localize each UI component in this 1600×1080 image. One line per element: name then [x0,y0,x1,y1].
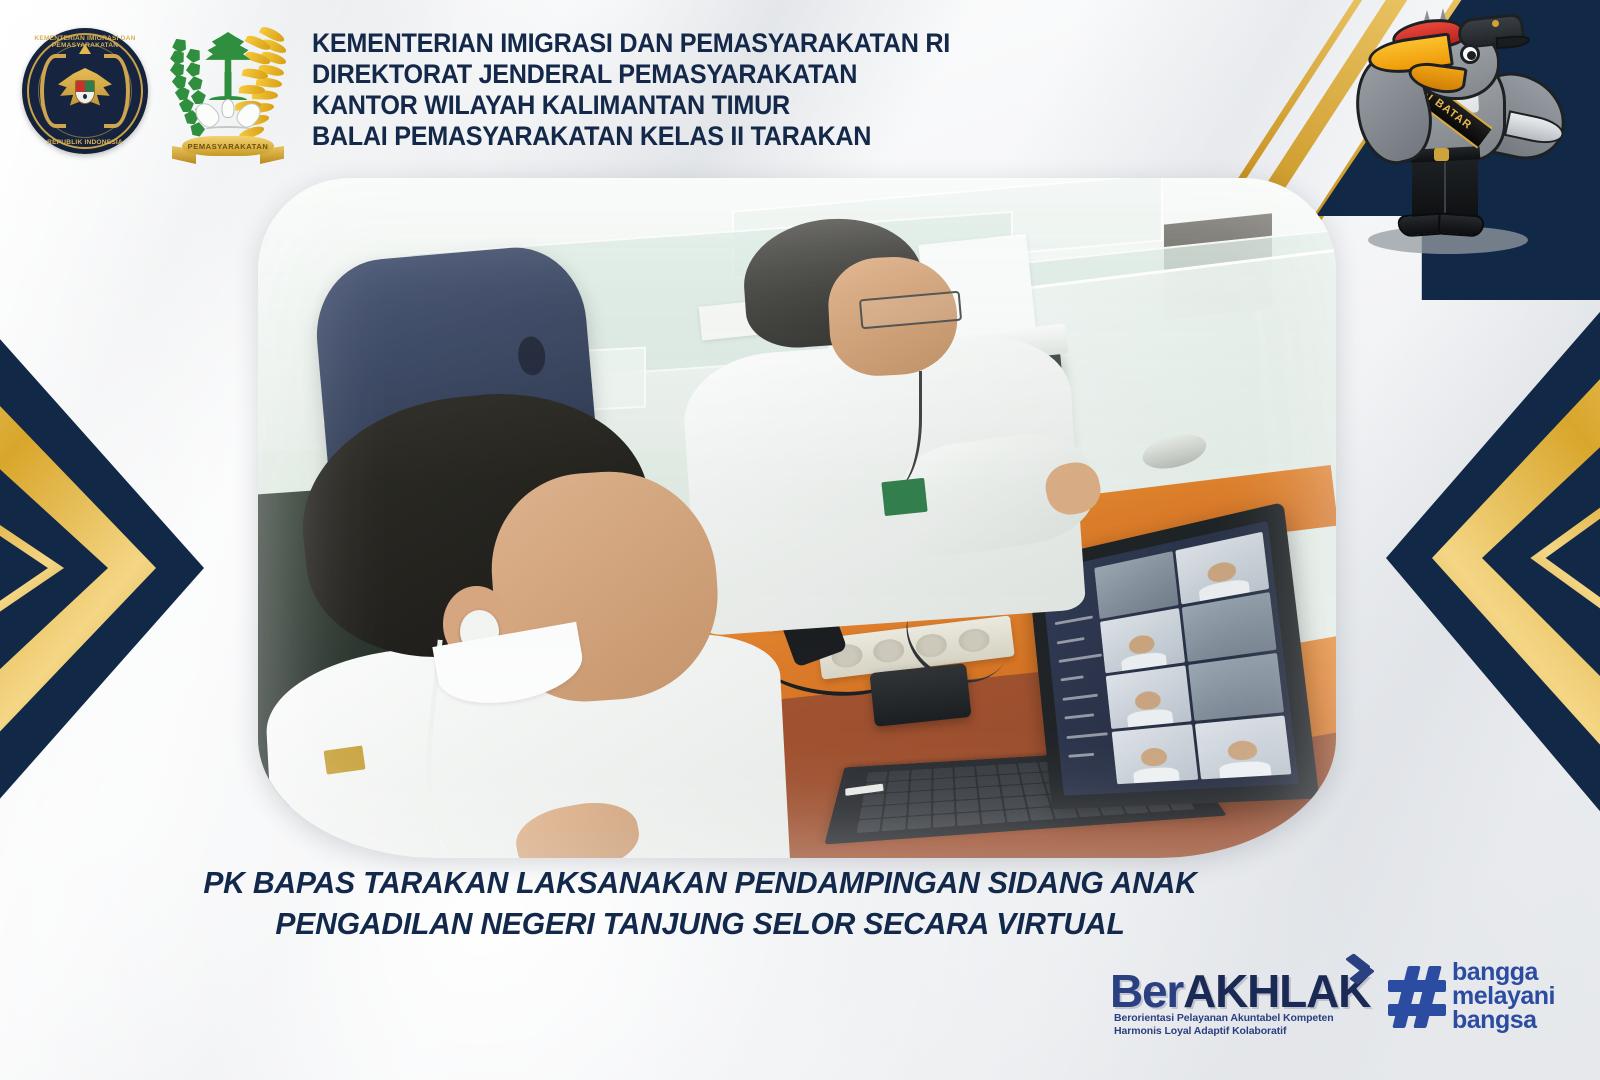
berakhlak-swoosh-icon [1347,954,1381,988]
header-title-block: KEMENTERIAN IMIGRASI DAN PEMASYARAKATAN … [312,28,984,152]
header-line-1: KEMENTERIAN IMIGRASI DAN PEMASYARAKATAN … [312,28,950,59]
caption-line-2: PENGADILAN NEGERI TANJUNG SELOR SECARA V… [21,903,1379,944]
berakhlak-akhlak: AKHLAK [1183,965,1370,1017]
header-line-4: BALAI PEMASYARAKATAN KELAS II TARAKAN [312,121,950,152]
caption-line-1: PK BAPAS TARAKAN LAKSANAKAN PENDAMPINGAN… [21,862,1379,903]
berakhlak-logo: BerAKHLAK Berorientasi Pelayanan Akuntab… [1110,960,1375,1040]
header-line-2: DIREKTORAT JENDERAL PEMASYARAKATAN [312,59,950,90]
bangga-line-1: bangga [1452,960,1555,984]
bangga-line-3: bangsa [1452,1008,1555,1032]
lotus-icon [197,94,259,134]
caption: PK BAPAS TARAKAN LAKSANAKAN PENDAMPINGAN… [0,862,1400,944]
pemasyarakatan-ribbon: PEMASYARAKATAN [172,130,284,164]
berakhlak-tagline: Berorientasi Pelayanan Akuntabel Kompete… [1114,1012,1364,1037]
event-photo [258,178,1336,858]
pemasyarakatan-emblem-icon: PEMASYARAKATAN [168,26,288,166]
si-batar-hornbill-mascot-icon: SI BATAR [1350,8,1560,258]
bangga-melayani-bangsa-logo: bangga melayani bangsa [1388,958,1593,1036]
hashtag-icon [1388,966,1446,1028]
berakhlak-ber: Ber [1110,965,1183,1017]
bangga-line-2: melayani [1452,984,1555,1008]
ribbon-text: PEMASYARAKATAN [188,142,269,151]
header-line-3: KANTOR WILAYAH KALIMANTAN TIMUR [312,90,950,121]
ministry-emblem-bottom-text: REPUBLIK INDONESIA [22,139,148,146]
poster-canvas: KEMENTERIAN IMIGRASI DAN PEMASYARAKATAN … [0,0,1600,1080]
ministry-emblem-icon: KEMENTERIAN IMIGRASI DAN PEMASYARAKATAN … [22,28,148,154]
